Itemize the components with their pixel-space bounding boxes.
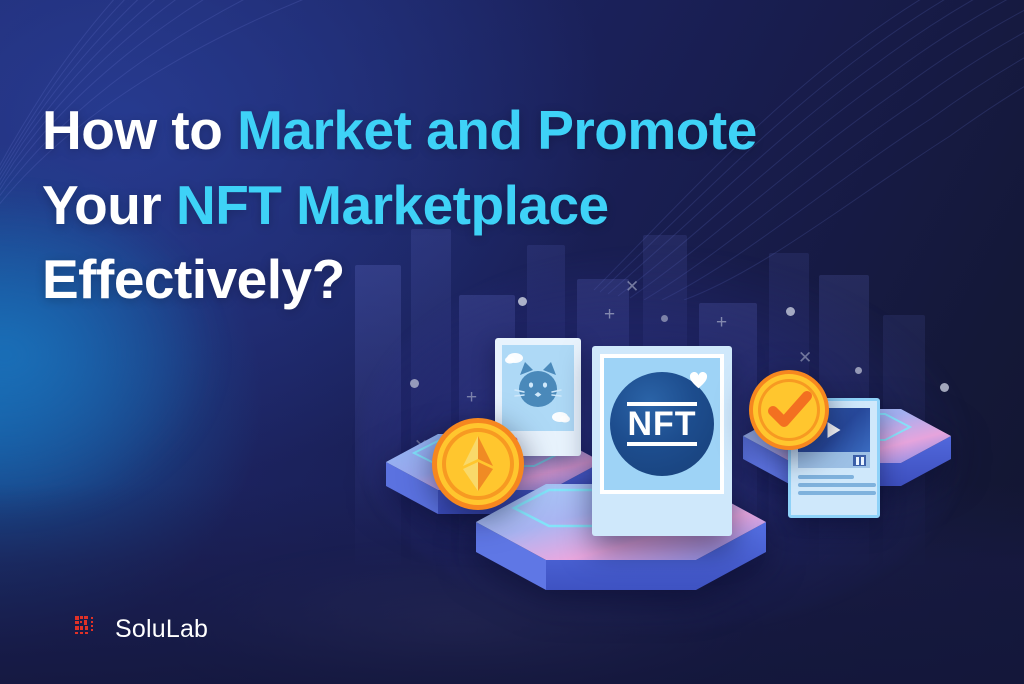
video-control-bar[interactable] [798,452,870,468]
pause-icon[interactable] [853,455,866,466]
video-card-text-lines [798,475,876,499]
nft-certificate-card[interactable]: NFT [592,346,732,536]
solulab-pixel-logo-icon [74,614,104,644]
brand-logo[interactable]: SoluLab [74,614,208,644]
title-line-1-plain: How to [42,99,237,161]
ethereum-coin[interactable] [430,416,526,512]
nft-card-artwork: NFT [600,354,724,494]
nft-illustration: NFT [360,250,980,640]
nft-card-label: NFT [627,402,696,446]
play-icon[interactable] [828,422,841,438]
verified-coin[interactable] [747,368,831,452]
cat-artwork-image [502,345,574,431]
brand-name: SoluLab [115,615,208,644]
title-line-2-plain: Your [42,174,176,236]
title-line-1-highlight: Market and Promote [237,99,757,161]
title-line-2-highlight: NFT Marketplace [176,174,609,236]
nft-marketing-banner: + + + + ✕ ✕ ✕ ✕ How to Market and Promot… [0,0,1024,684]
title-line-3-plain: Effectively? [42,248,345,310]
heart-icon[interactable] [689,372,708,389]
